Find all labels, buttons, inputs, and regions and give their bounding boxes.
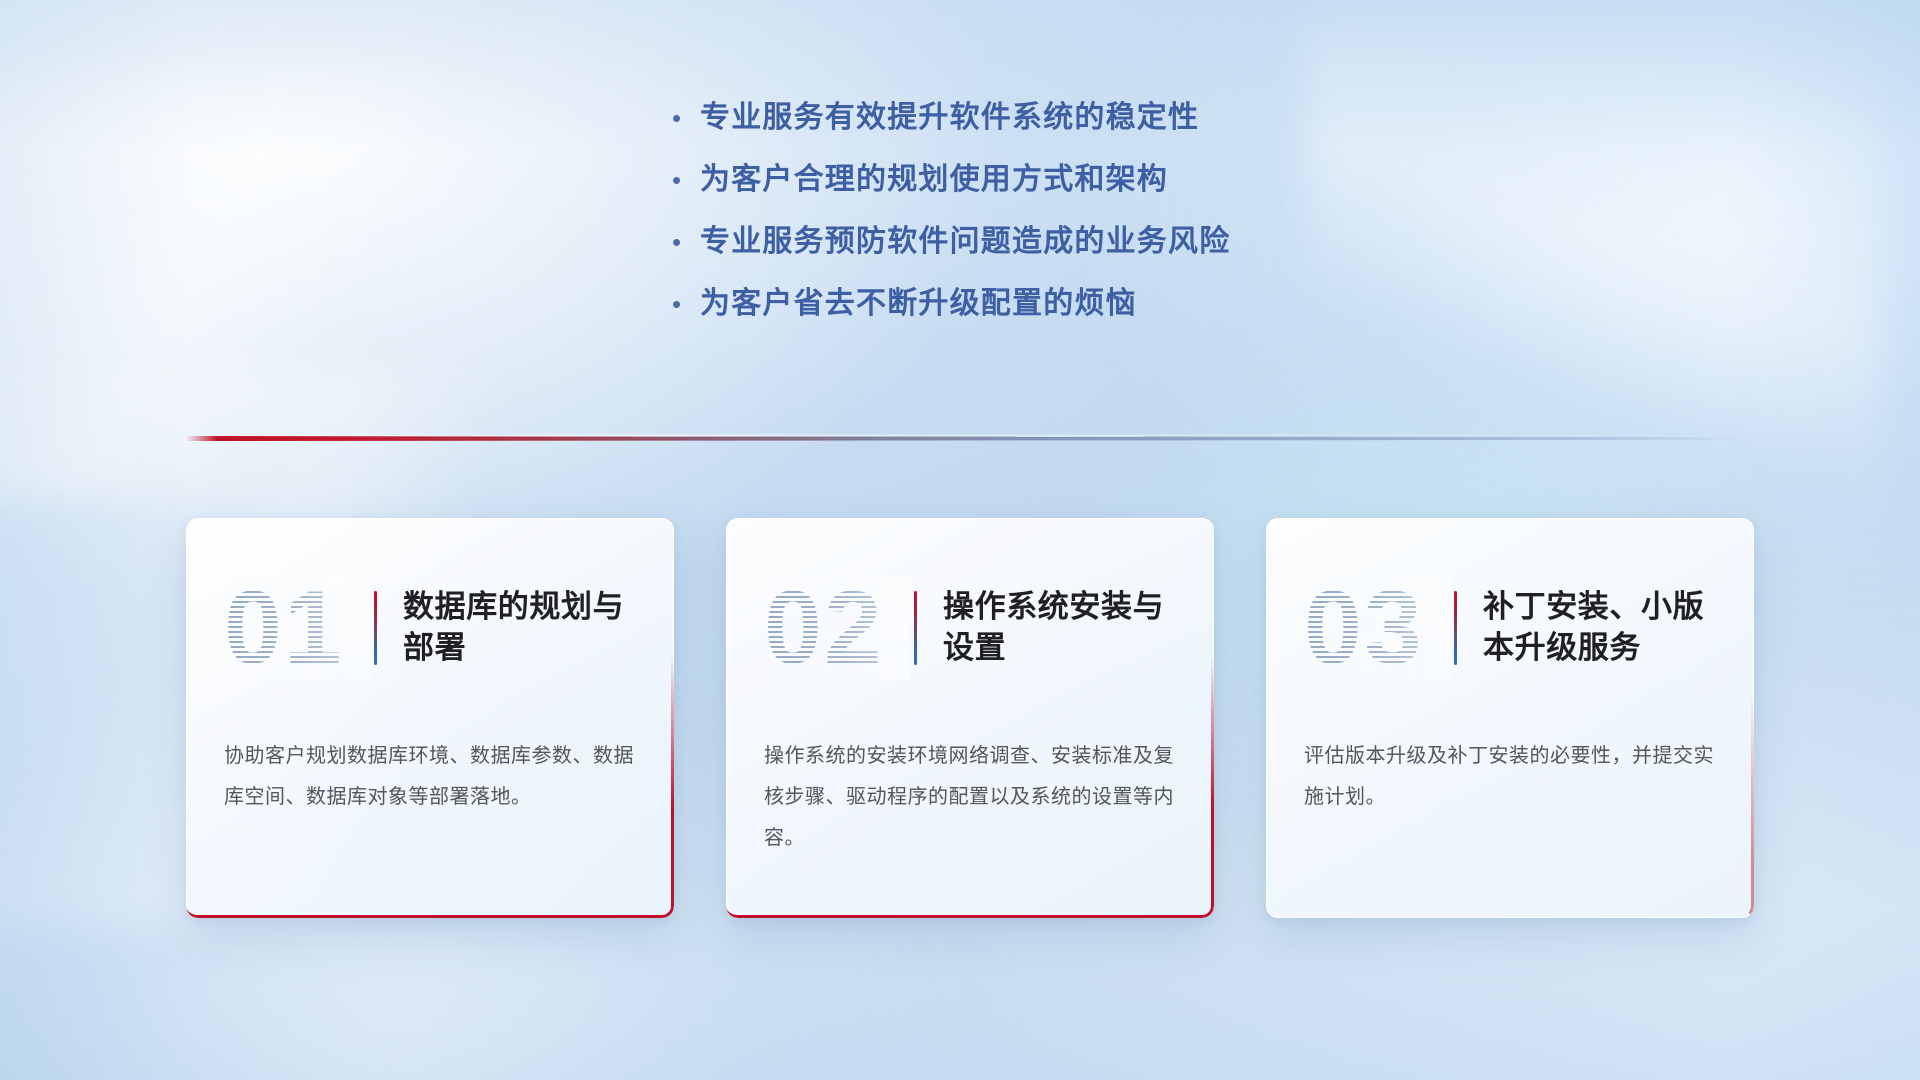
bullet-dot-icon: •: [672, 167, 700, 193]
card-number: 02: [764, 576, 910, 680]
list-item: • 为客户省去不断升级配置的烦恼: [672, 278, 1432, 340]
card-body-text: 评估版本升级及补丁安装的必要性，并提交实施计划。: [1304, 736, 1716, 818]
service-card-01[interactable]: 01 数据库的规划与部署 协助客户规划数据库环境、数据库参数、数据库空间、数据库…: [186, 518, 674, 918]
section-divider: [186, 432, 1746, 446]
list-item: • 专业服务有效提升软件系统的稳定性: [672, 92, 1432, 154]
bullet-text: 为客户合理的规划使用方式和架构: [700, 154, 1168, 198]
card-title: 操作系统安装与设置: [943, 587, 1176, 669]
service-card-02[interactable]: 02 操作系统安装与设置 操作系统的安装环境网络调查、安装标准及复核步骤、驱动程…: [726, 518, 1214, 918]
bullet-text: 专业服务预防软件问题造成的业务风险: [700, 216, 1230, 260]
bullet-list: • 专业服务有效提升软件系统的稳定性 • 为客户合理的规划使用方式和架构 • 专…: [672, 92, 1432, 340]
list-item: • 专业服务预防软件问题造成的业务风险: [672, 216, 1432, 278]
bullet-dot-icon: •: [672, 291, 700, 317]
list-item: • 为客户合理的规划使用方式和架构: [672, 154, 1432, 216]
card-body-text: 协助客户规划数据库环境、数据库参数、数据库空间、数据库对象等部署落地。: [224, 736, 636, 818]
divider-sheen: [186, 434, 1746, 437]
card-header: 03 补丁安装、小版本升级服务: [1304, 574, 1716, 682]
card-divider-bar: [1454, 591, 1457, 665]
card-title: 补丁安装、小版本升级服务: [1483, 587, 1716, 669]
card-header: 02 操作系统安装与设置: [764, 574, 1176, 682]
bullet-dot-icon: •: [672, 105, 700, 131]
bullet-text: 专业服务有效提升软件系统的稳定性: [700, 92, 1199, 136]
card-body-text: 操作系统的安装环境网络调查、安装标准及复核步骤、驱动程序的配置以及系统的设置等内…: [764, 736, 1176, 859]
bullet-dot-icon: •: [672, 229, 700, 255]
bullet-text: 为客户省去不断升级配置的烦恼: [700, 278, 1137, 322]
card-title: 数据库的规划与部署: [403, 587, 636, 669]
card-number: 03: [1304, 576, 1450, 680]
card-row: 01 数据库的规划与部署 协助客户规划数据库环境、数据库参数、数据库空间、数据库…: [186, 518, 1754, 918]
card-divider-bar: [374, 591, 377, 665]
card-divider-bar: [914, 591, 917, 665]
card-header: 01 数据库的规划与部署: [224, 574, 636, 682]
card-number: 01: [224, 576, 370, 680]
service-card-03[interactable]: 03 补丁安装、小版本升级服务 评估版本升级及补丁安装的必要性，并提交实施计划。: [1266, 518, 1754, 918]
